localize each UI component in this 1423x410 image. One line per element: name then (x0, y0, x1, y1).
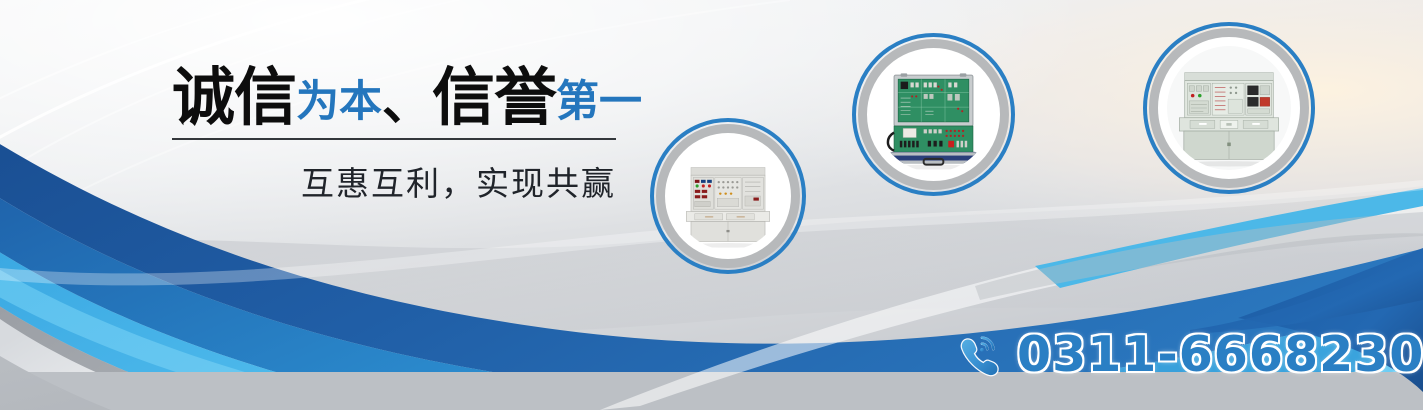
title-part1-accent: 为本 (296, 77, 382, 127)
product-photo-green-bench (1167, 46, 1291, 170)
title-part2-accent: 第一 (556, 77, 642, 127)
page-title: 诚信为本、信誉第一 (172, 66, 632, 129)
circle-inner-ring (1149, 28, 1309, 188)
title-separator: 、 (382, 73, 432, 131)
circle-inner-ring (858, 39, 1009, 190)
product-photo-workbench (674, 142, 782, 250)
phone-call-icon (955, 331, 1003, 379)
contact-phone[interactable]: 0311-66682303 (955, 326, 1423, 383)
promo-banner: 诚信为本、信誉第一 互惠互利，实现共赢 (0, 0, 1423, 410)
product-circle-training-case[interactable] (852, 33, 1015, 196)
title-part1-black: 诚信 (172, 61, 296, 134)
title-part2-black: 信誉 (432, 61, 556, 134)
subtitle: 互惠互利，实现共赢 (172, 157, 616, 205)
product-circle-green-bench[interactable] (1143, 22, 1315, 194)
phone-number: 0311-66682303 (1017, 326, 1423, 383)
circle-inner-ring (656, 124, 800, 268)
product-circle-workbench[interactable] (650, 118, 806, 274)
headline-block: 诚信为本、信誉第一 互惠互利，实现共赢 (172, 66, 632, 205)
product-photo-training-case (876, 57, 991, 172)
title-divider (172, 138, 616, 140)
